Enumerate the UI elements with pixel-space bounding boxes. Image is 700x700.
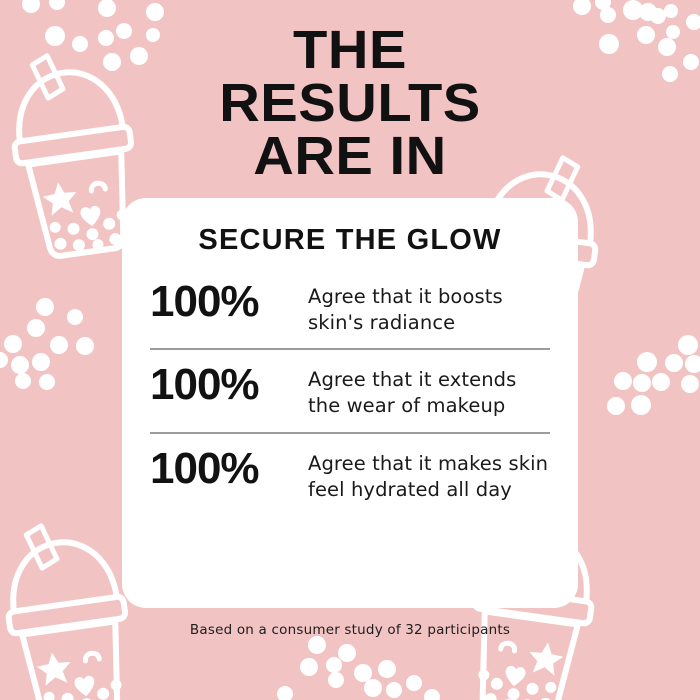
dot-cluster-mid-left: [0, 298, 94, 390]
poster-canvas: THE RESULTS ARE IN SECURE THE GLOW 100% …: [0, 0, 700, 700]
stat-description: Agree that it makes skin feel hydrated a…: [308, 447, 550, 502]
headline-line-2: RESULTS: [0, 77, 700, 130]
stats-list: 100% Agree that it boosts skin's radianc…: [150, 267, 550, 515]
footnote: Based on a consumer study of 32 particip…: [0, 622, 700, 638]
stat-value: 100%: [150, 280, 308, 325]
results-card: SECURE THE GLOW 100% Agree that it boost…: [122, 198, 578, 608]
stat-value: 100%: [150, 363, 308, 408]
stat-value: 100%: [150, 447, 308, 492]
card-title: SECURE THE GLOW: [150, 224, 550, 257]
boba-cup-bottom-left: [0, 516, 139, 700]
headline-line-1: THE: [0, 24, 700, 77]
headline-line-3: ARE IN: [0, 130, 700, 183]
dot-cluster-mid-right: [607, 335, 700, 415]
stat-description: Agree that it boosts skin's radiance: [308, 280, 550, 335]
stat-row: 100% Agree that it boosts skin's radianc…: [150, 267, 550, 348]
stat-row: 100% Agree that it makes skin feel hydra…: [150, 432, 550, 515]
dot-cluster-bottom-center: [277, 636, 440, 700]
stat-description: Agree that it extends the wear of makeup: [308, 363, 550, 418]
headline: THE RESULTS ARE IN: [0, 24, 700, 183]
stat-row: 100% Agree that it extends the wear of m…: [150, 348, 550, 431]
